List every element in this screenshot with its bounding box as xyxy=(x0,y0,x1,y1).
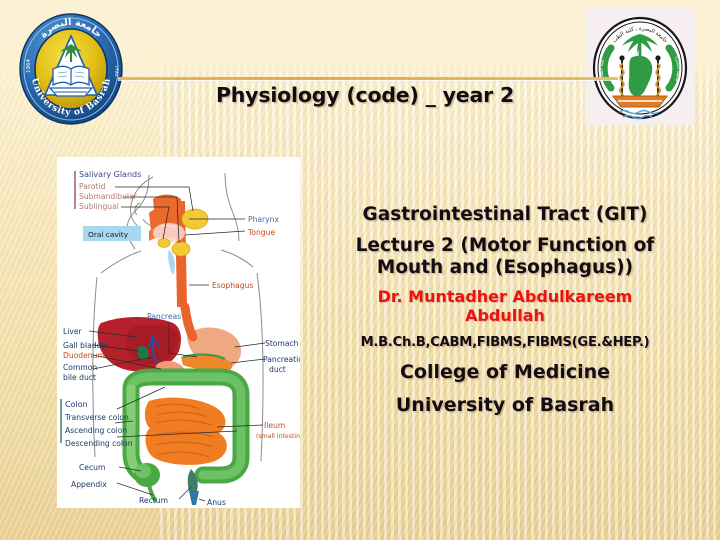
page-title: Physiology (code) _ year 2 xyxy=(150,83,580,107)
university-name: University of Basrah xyxy=(300,394,710,416)
svg-text:1964: 1964 xyxy=(26,59,32,73)
label-ileum-sub: (small intestine) xyxy=(256,433,300,440)
lecturer-name-line2: Abdullah xyxy=(300,307,710,326)
label-esophagus: Esophagus xyxy=(212,281,253,290)
label-rectum: Rectum xyxy=(139,496,168,505)
slide-canvas: جامعة البصرة University of Basrah 1964 ١… xyxy=(0,0,720,540)
label-pancreatic-duct-2: duct xyxy=(269,365,286,374)
label-salivary-glands: Salivary Glands xyxy=(79,170,141,179)
git-diagram-image: Oral cavity xyxy=(57,157,300,508)
lecture-title-line2: Mouth and (Esophagus)) xyxy=(300,257,710,279)
header-divider-line xyxy=(118,77,618,80)
subject-title: Gastrointestinal Tract (GIT) xyxy=(300,204,710,226)
lecturer-name: Dr. Muntadher Abdulkareem Abdullah xyxy=(300,288,710,326)
slide-text-block: Gastrointestinal Tract (GIT) Lecture 2 (… xyxy=(300,204,710,417)
svg-text:١٣٨٤: ١٣٨٤ xyxy=(113,65,119,77)
label-oral-cavity: Oral cavity xyxy=(88,230,129,239)
label-submandibular: Submandibular xyxy=(79,192,138,201)
label-appendix: Appendix xyxy=(71,480,107,489)
label-colon: Colon xyxy=(65,400,88,409)
label-ascending-colon: Ascending colon xyxy=(65,426,127,435)
label-transverse-colon: Transverse colon xyxy=(64,413,129,422)
label-tongue: Tongue xyxy=(247,228,275,237)
label-common-bile-duct-1: Common xyxy=(63,363,97,372)
label-sublingual: Sublingual xyxy=(79,202,119,211)
lecturer-degrees: M.B.Ch.B,CABM,FIBMS,FIBMS(GE.&HEP.) xyxy=(300,335,710,351)
university-of-basrah-logo: جامعة البصرة University of Basrah 1964 ١… xyxy=(17,13,125,125)
label-pancreatic-duct-1: Pancreatic xyxy=(263,355,300,364)
label-stomach: Stomach xyxy=(265,339,299,348)
label-parotid: Parotid xyxy=(79,182,106,191)
label-anus: Anus xyxy=(207,498,226,507)
label-descending-colon: Descending colon xyxy=(65,439,133,448)
label-pancreas: Pancreas xyxy=(147,312,181,321)
lecture-title: Lecture 2 (Motor Function of Mouth and (… xyxy=(300,235,710,279)
label-pharynx: Pharynx xyxy=(248,215,279,224)
label-common-bile-duct-2: bile duct xyxy=(63,373,96,382)
label-liver: Liver xyxy=(63,327,83,336)
label-ileum: Ileum xyxy=(264,421,285,430)
label-cecum: Cecum xyxy=(79,463,105,472)
lecture-title-line1: Lecture 2 (Motor Function of xyxy=(300,235,710,257)
college-name: College of Medicine xyxy=(300,361,710,383)
label-gall-bladder: Gall bladder xyxy=(63,341,110,350)
label-duodenum: Duodenum xyxy=(63,351,105,360)
lecturer-name-line1: Dr. Muntadher Abdulkareem xyxy=(300,288,710,307)
college-of-medicine-logo: جامعة البصرة ـ كلية الطب كلية الطب جامعة… xyxy=(585,8,695,125)
